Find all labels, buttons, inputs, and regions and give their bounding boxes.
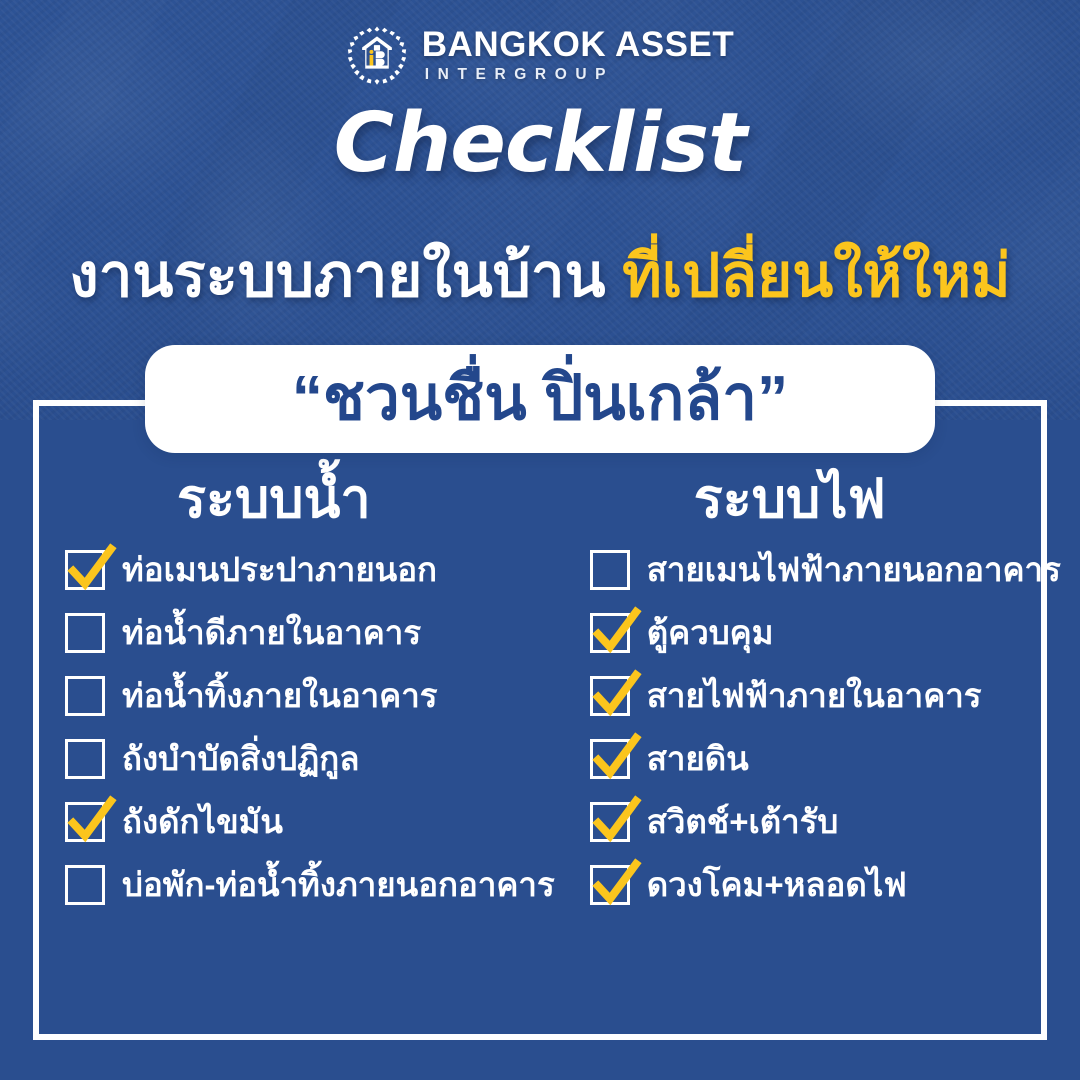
house-laurel-logo-icon	[346, 24, 408, 86]
check-mark-icon	[589, 733, 641, 785]
checkbox-checked[interactable]	[590, 676, 630, 716]
list-item-label: สายดิน	[647, 741, 749, 777]
list-item[interactable]: ท่อเมนประปาภายนอก	[65, 550, 555, 590]
subtitle: งานระบบภายในบ้าน ที่เปลี่ยนให้ใหม่	[0, 228, 1080, 323]
subtitle-plain: งานระบบภายในบ้าน	[69, 242, 605, 309]
subtitle-accent: ที่เปลี่ยนให้ใหม่	[622, 242, 1010, 309]
checklist-columns: ระบบน้ำ ท่อเมนประปาภายนอก ท่อน้ำดีภายในอ…	[33, 470, 1047, 1030]
column-heading-electrical: ระบบไฟ	[555, 470, 1061, 528]
check-mark-icon	[589, 670, 641, 722]
checkbox-unchecked[interactable]	[65, 676, 105, 716]
checkbox-checked[interactable]	[590, 739, 630, 779]
checklist-poster: BANGKOK ASSET INTERGROUP Checklist งานระ…	[0, 0, 1080, 1080]
checklist-items-electrical: สายเมนไฟฟ้าภายนอกอาคาร ตู้ควบคุม สายไฟฟ้…	[555, 550, 1061, 905]
project-name: “ชวนชื่น ปิ่นเกล้า”	[292, 368, 788, 430]
checkbox-checked[interactable]	[65, 802, 105, 842]
check-mark-icon	[589, 607, 641, 659]
brand-tagline: INTERGROUP	[422, 67, 734, 83]
checkbox-checked[interactable]	[590, 613, 630, 653]
list-item-label: สายเมนไฟฟ้าภายนอกอาคาร	[647, 552, 1061, 588]
list-item[interactable]: สายไฟฟ้าภายในอาคาร	[590, 676, 1061, 716]
list-item-label: สายไฟฟ้าภายในอาคาร	[647, 678, 982, 714]
list-item[interactable]: ดวงโคม+หลอดไฟ	[590, 865, 1061, 905]
list-item[interactable]: ท่อน้ำดีภายในอาคาร	[65, 613, 555, 653]
checkbox-unchecked[interactable]	[590, 550, 630, 590]
list-item-label: ท่อน้ำทิ้งภายในอาคาร	[122, 678, 438, 714]
checkbox-checked[interactable]	[590, 802, 630, 842]
checkbox-unchecked[interactable]	[65, 739, 105, 779]
brand-name: BANGKOK ASSET	[422, 27, 734, 62]
list-item[interactable]: ท่อน้ำทิ้งภายในอาคาร	[65, 676, 555, 716]
list-item[interactable]: ถังดักไขมัน	[65, 802, 555, 842]
list-item-label: สวิตช์+เต้ารับ	[647, 804, 839, 840]
checklist-column-electrical: ระบบไฟ สายเมนไฟฟ้าภายนอกอาคาร ตู้ควบคุม	[555, 470, 1061, 1030]
project-name-banner: “ชวนชื่น ปิ่นเกล้า”	[145, 345, 935, 453]
list-item[interactable]: ตู้ควบคุม	[590, 613, 1061, 653]
check-mark-icon	[589, 859, 641, 911]
list-item-label: ดวงโคม+หลอดไฟ	[647, 867, 907, 903]
check-mark-icon	[64, 544, 116, 596]
list-item[interactable]: สายดิน	[590, 739, 1061, 779]
list-item-label: ท่อเมนประปาภายนอก	[122, 552, 437, 588]
page-title: Checklist	[0, 96, 1080, 191]
checklist-column-water: ระบบน้ำ ท่อเมนประปาภายนอก ท่อน้ำดีภายในอ…	[33, 470, 555, 1030]
list-item[interactable]: สายเมนไฟฟ้าภายนอกอาคาร	[590, 550, 1061, 590]
checkbox-checked[interactable]	[65, 550, 105, 590]
column-heading-water: ระบบน้ำ	[33, 470, 555, 528]
list-item[interactable]: สวิตช์+เต้ารับ	[590, 802, 1061, 842]
checkbox-checked[interactable]	[590, 865, 630, 905]
list-item-label: บ่อพัก-ท่อน้ำทิ้งภายนอกอาคาร	[122, 867, 555, 903]
list-item-label: ถังบำบัดสิ่งปฏิกูล	[122, 741, 360, 777]
list-item-label: ท่อน้ำดีภายในอาคาร	[122, 615, 421, 651]
list-item[interactable]: บ่อพัก-ท่อน้ำทิ้งภายนอกอาคาร	[65, 865, 555, 905]
check-mark-icon	[64, 796, 116, 848]
list-item-label: ตู้ควบคุม	[647, 615, 774, 651]
check-mark-icon	[589, 796, 641, 848]
list-item-label: ถังดักไขมัน	[122, 804, 283, 840]
checkbox-unchecked[interactable]	[65, 865, 105, 905]
brand-logo: BANGKOK ASSET INTERGROUP	[0, 24, 1080, 86]
checkbox-unchecked[interactable]	[65, 613, 105, 653]
list-item[interactable]: ถังบำบัดสิ่งปฏิกูล	[65, 739, 555, 779]
checklist-items-water: ท่อเมนประปาภายนอก ท่อน้ำดีภายในอาคาร ท่อ…	[33, 550, 555, 905]
